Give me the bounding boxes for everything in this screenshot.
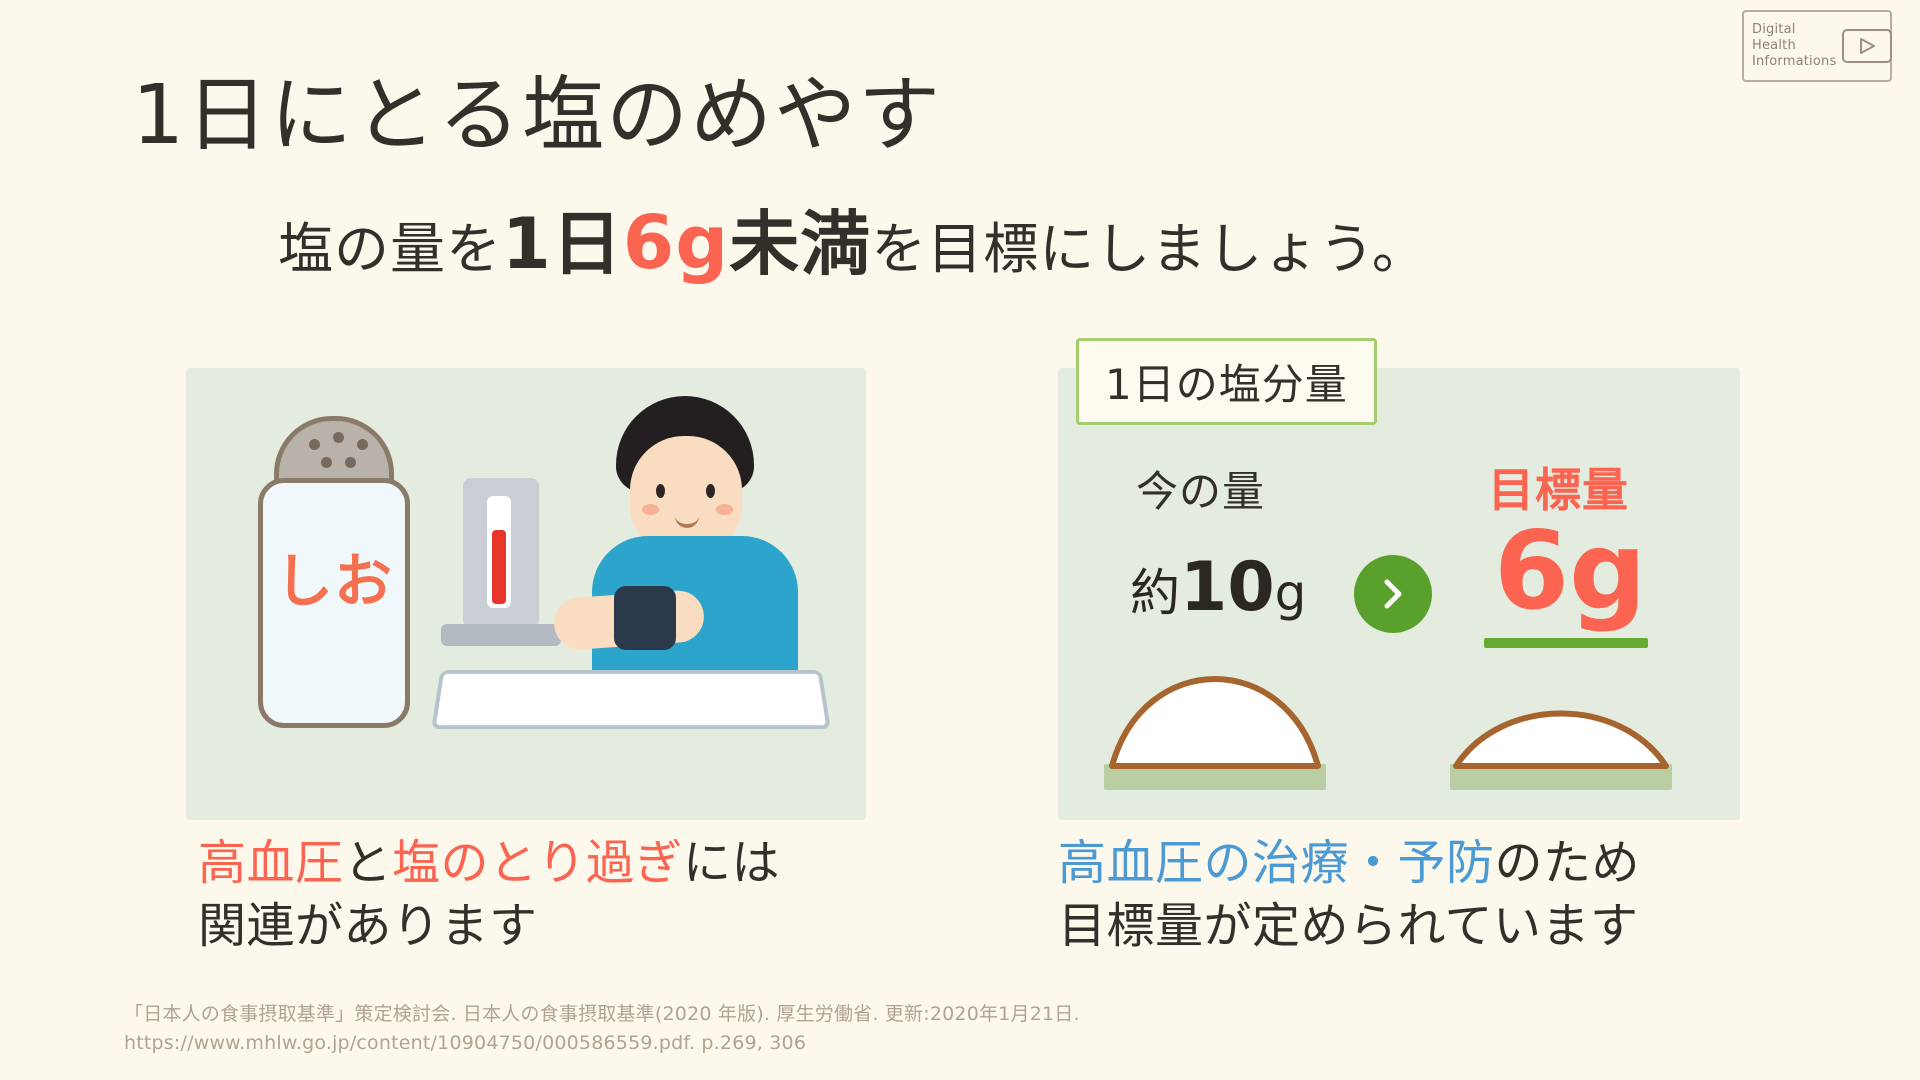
person-cheek-right xyxy=(716,504,733,515)
citation-line-2: https://www.mhlw.go.jp/content/10904750/… xyxy=(124,1029,1080,1058)
salt-shaker-icon: しお xyxy=(246,416,424,736)
right-caption-suffix: のため xyxy=(1495,835,1641,891)
current-amount-value: 約10g xyxy=(1130,548,1306,627)
monitor-mercury xyxy=(492,530,506,604)
page-subtitle: 塩の量を1日6g未満を目標にしましょう。 xyxy=(278,188,1428,289)
badge-line-3: Informations xyxy=(1752,54,1836,70)
chevron-right-icon xyxy=(1354,555,1432,633)
current-amount-unit: g xyxy=(1275,564,1307,622)
left-illustration-panel: しお xyxy=(186,368,866,820)
salt-mound-current xyxy=(1104,640,1326,790)
source-citation: 「日本人の食事摂取基準」策定検討会. 日本人の食事摂取基準(2020 年版). … xyxy=(124,1000,1080,1059)
slide-root: Digital Health Informations 1日にとる塩のめやす 塩… xyxy=(0,0,1920,1080)
left-caption-highlight-2: 塩のとり過ぎ xyxy=(392,835,683,891)
left-caption-line-1: 高血圧と塩のとり過ぎには xyxy=(198,832,780,895)
digital-health-informations-badge: Digital Health Informations xyxy=(1742,10,1892,82)
right-caption-line-2: 目標量が定められています xyxy=(1058,895,1640,958)
person-cheek-left xyxy=(642,504,659,515)
subtitle-amount: 6g xyxy=(623,200,729,286)
subtitle-per-day: 1日 xyxy=(502,203,623,285)
subtitle-suffix: を目標にしましょう。 xyxy=(871,217,1428,281)
subtitle-prefix: 塩の量を xyxy=(278,217,502,281)
daily-salt-amount-tag: 1日の塩分量 xyxy=(1076,338,1377,425)
left-caption-highlight-1: 高血圧 xyxy=(198,835,344,891)
target-amount-number: 6 xyxy=(1494,509,1569,634)
salt-mound-target xyxy=(1450,640,1672,790)
left-caption-conjunction: と xyxy=(344,835,393,891)
target-underline xyxy=(1484,638,1648,648)
badge-line-1: Digital xyxy=(1752,22,1836,38)
person-illustration xyxy=(538,388,838,718)
left-caption-line-2: 関連があります xyxy=(198,895,780,958)
target-amount-value: 6g xyxy=(1494,518,1646,626)
badge-text: Digital Health Informations xyxy=(1752,22,1836,71)
table-illustration xyxy=(431,670,831,729)
left-caption-particle: には xyxy=(683,835,780,891)
blood-pressure-cuff xyxy=(614,586,676,650)
right-panel-caption: 高血圧の治療・予防のため 目標量が定められています xyxy=(1058,832,1640,959)
play-icon xyxy=(1842,29,1892,63)
person-eye-right xyxy=(706,484,715,498)
current-amount-label: 今の量 xyxy=(1136,458,1265,519)
person-eye-left xyxy=(656,484,665,498)
right-caption-highlight: 高血圧の治療・予防 xyxy=(1058,835,1495,891)
shaker-label: しお xyxy=(268,534,400,618)
subtitle-suffix-bold: 未満 xyxy=(729,203,871,285)
right-caption-line-1: 高血圧の治療・予防のため xyxy=(1058,832,1640,895)
badge-line-2: Health xyxy=(1752,38,1836,54)
target-amount-unit: g xyxy=(1569,509,1646,634)
current-amount-number: 10 xyxy=(1180,548,1275,627)
page-title: 1日にとる塩のめやす xyxy=(132,48,942,167)
current-approx-prefix: 約 xyxy=(1130,564,1180,622)
left-panel-caption: 高血圧と塩のとり過ぎには 関連があります xyxy=(198,832,780,959)
citation-line-1: 「日本人の食事摂取基準」策定検討会. 日本人の食事摂取基準(2020 年版). … xyxy=(124,1000,1080,1029)
